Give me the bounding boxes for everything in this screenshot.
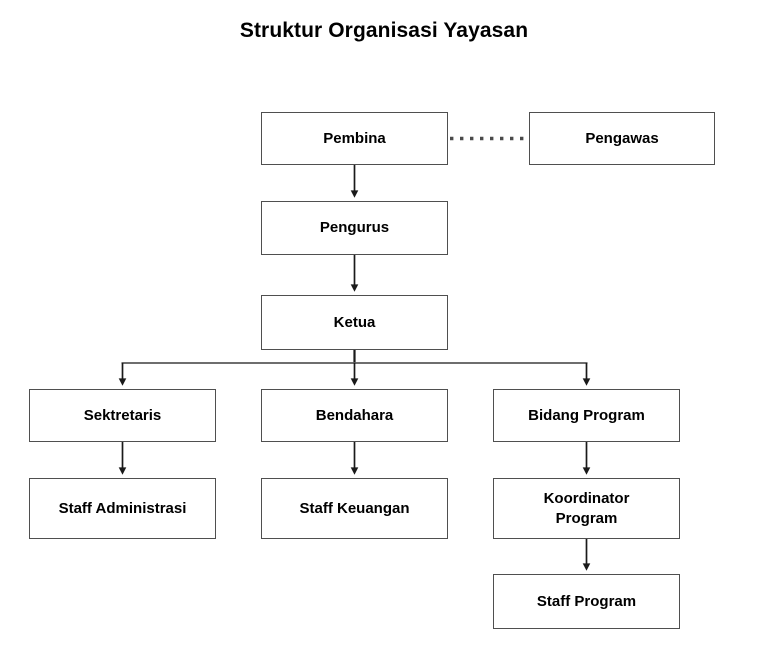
node-label: Koordinator Program — [527, 489, 647, 529]
node-label: Pengurus — [320, 218, 389, 238]
node-label: Bidang Program — [528, 406, 645, 426]
node-label: Staff Keuangan — [299, 499, 409, 519]
node-staff-program[interactable]: Staff Program — [493, 574, 680, 629]
node-pembina[interactable]: Pembina — [261, 112, 448, 165]
node-label: Staff Administrasi — [59, 499, 187, 519]
node-label: Pembina — [323, 129, 386, 149]
node-label: Staff Program — [537, 592, 636, 612]
node-label: Sektretaris — [84, 406, 162, 426]
node-staff-administrasi[interactable]: Staff Administrasi — [29, 478, 216, 539]
node-pengawas[interactable]: Pengawas — [529, 112, 715, 165]
org-chart-canvas: Struktur Organisasi Yayasan — [0, 0, 768, 668]
node-staff-keuangan[interactable]: Staff Keuangan — [261, 478, 448, 539]
node-bidang-program[interactable]: Bidang Program — [493, 389, 680, 442]
node-label: Ketua — [334, 313, 376, 333]
node-koordinator-program[interactable]: Koordinator Program — [493, 478, 680, 539]
node-label: Pengawas — [585, 129, 658, 149]
node-sektretaris[interactable]: Sektretaris — [29, 389, 216, 442]
page-title: Struktur Organisasi Yayasan — [0, 19, 768, 43]
node-pengurus[interactable]: Pengurus — [261, 201, 448, 255]
node-label: Bendahara — [316, 406, 394, 426]
node-ketua[interactable]: Ketua — [261, 295, 448, 350]
node-bendahara[interactable]: Bendahara — [261, 389, 448, 442]
